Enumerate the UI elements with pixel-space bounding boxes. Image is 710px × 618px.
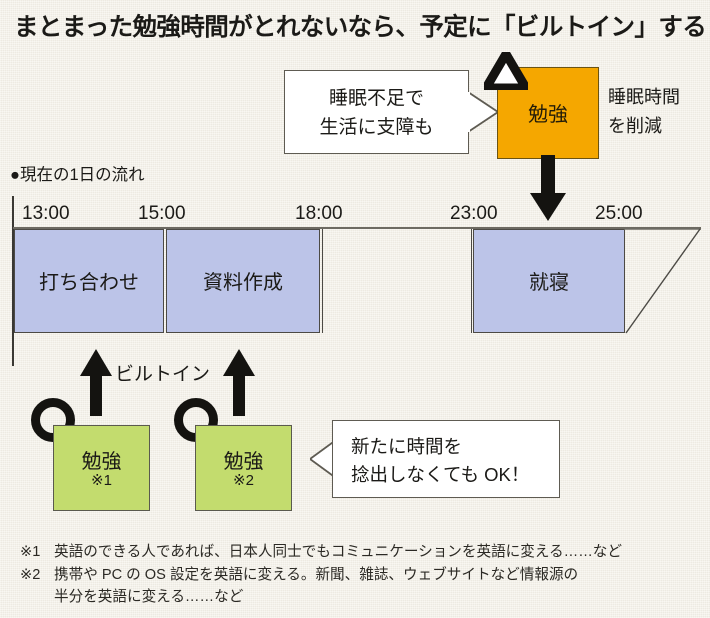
builtin-label: ビルトイン — [115, 359, 210, 386]
footnote-text-2: 携帯や PC の OS 設定を英語に変える。新聞、雑誌、ウェブサイトなど情報源の… — [54, 564, 700, 609]
page-title: まとまった勉強時間がとれないなら、予定に「ビルトイン」する — [14, 8, 704, 43]
sleep-reduction-note: 睡眠時間 を削減 — [608, 83, 680, 141]
timeline-block-label: 就寝 — [474, 266, 624, 295]
timeline-tick-2: 18:00 — [295, 203, 343, 225]
timeline-block-document: 資料作成 — [166, 229, 320, 333]
callout-tail-icon — [468, 92, 498, 132]
timeline-tick-3: 23:00 — [450, 203, 498, 225]
builtin-up-arrow-icon-1 — [79, 348, 113, 416]
no-extra-time-callout: 新たに時間を 捻出しなくても OK！ — [332, 420, 560, 498]
green-study-block-1: 勉強 ※1 — [53, 425, 150, 511]
infographic-root: まとまった勉強時間がとれないなら、予定に「ビルトイン」する 睡眠不足で 生活に支… — [0, 0, 710, 618]
timeline-tick-0: 13:00 — [22, 203, 70, 225]
footnote-marker-1: ※1 — [20, 541, 54, 564]
green-study-label-2: 勉強 — [196, 445, 291, 474]
builtin-up-arrow-icon-2 — [222, 348, 256, 416]
timeline-block-sleep: 就寝 — [473, 229, 625, 333]
timeline-tail-icon — [624, 228, 702, 334]
timeline-tick-4: 25:00 — [595, 203, 643, 225]
down-arrow-icon — [528, 155, 568, 223]
timeline-block-free — [322, 229, 472, 333]
footnote-row-1: ※1 英語のできる人であれば、日本人同士でもコミュニケーションを英語に変える……… — [20, 541, 700, 564]
triangle-marker-icon — [484, 52, 528, 90]
timeline-block-label: 打ち合わせ — [15, 266, 163, 295]
timeline-block-meeting: 打ち合わせ — [14, 229, 164, 333]
footnote-text-1: 英語のできる人であれば、日本人同士でもコミュニケーションを英語に変える……など — [54, 541, 700, 564]
sleep-deficit-callout: 睡眠不足で 生活に支障も — [284, 70, 469, 154]
footnote-row-2: ※2 携帯や PC の OS 設定を英語に変える。新聞、雑誌、ウェブサイトなど情… — [20, 564, 700, 609]
orange-study-label: 勉強 — [498, 98, 598, 127]
green-study-block-2: 勉強 ※2 — [195, 425, 292, 511]
green-study-footnote-ref-1: ※1 — [54, 471, 149, 489]
green-study-label-1: 勉強 — [54, 445, 149, 474]
footnote-marker-2: ※2 — [20, 564, 54, 587]
no-extra-time-callout-text: 新たに時間を 捻出しなくても OK！ — [351, 433, 529, 489]
section-heading: ●現在の1日の流れ — [10, 161, 145, 185]
footnotes: ※1 英語のできる人であれば、日本人同士でもコミュニケーションを英語に変える……… — [20, 541, 700, 609]
green-study-footnote-ref-2: ※2 — [196, 471, 291, 489]
sleep-deficit-callout-text: 睡眠不足で 生活に支障も — [285, 84, 468, 142]
timeline-tick-1: 15:00 — [138, 203, 186, 225]
timeline-block-label: 資料作成 — [167, 266, 319, 295]
